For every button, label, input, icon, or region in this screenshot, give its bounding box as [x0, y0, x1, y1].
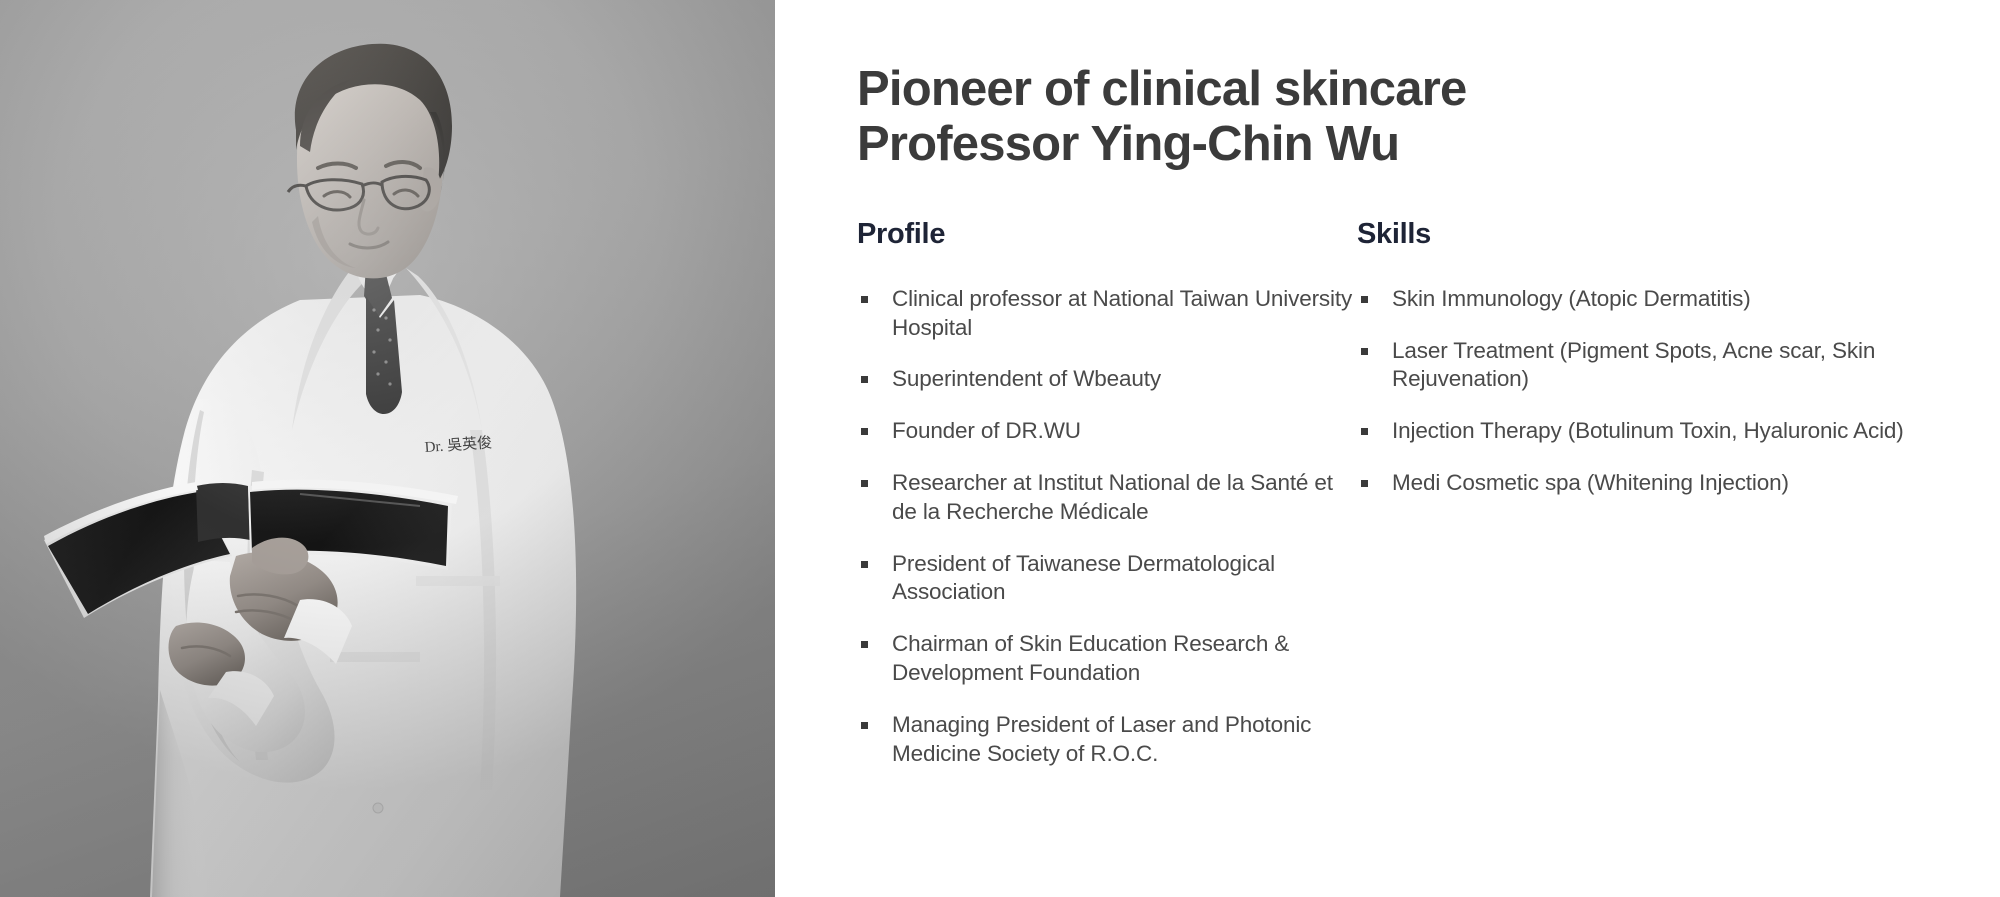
list-item-label: Medi Cosmetic spa (Whitening Injection): [1392, 470, 1789, 495]
square-bullet-icon: [861, 376, 868, 383]
list-item-label: Managing President of Laser and Photonic…: [892, 712, 1311, 766]
list-item-label: Chairman of Skin Education Research & De…: [892, 631, 1289, 685]
skills-column: Skills Skin Immunology (Atopic Dermatiti…: [1357, 218, 1957, 769]
list-item-label: President of Taiwanese Dermatological As…: [892, 551, 1275, 605]
info-columns: Profile Clinical professor at National T…: [857, 218, 2000, 769]
list-item-label: Researcher at Institut National de la Sa…: [892, 470, 1333, 524]
list-item: Medi Cosmetic spa (Whitening Injection): [1357, 469, 1957, 498]
square-bullet-icon: [1361, 348, 1368, 355]
square-bullet-icon: [861, 641, 868, 648]
list-item: Founder of DR.WU: [857, 417, 1357, 446]
square-bullet-icon: [861, 722, 868, 729]
square-bullet-icon: [861, 428, 868, 435]
list-item: Clinical professor at National Taiwan Un…: [857, 285, 1357, 343]
square-bullet-icon: [1361, 480, 1368, 487]
list-item-label: Skin Immunology (Atopic Dermatitis): [1392, 286, 1751, 311]
page-title: Pioneer of clinical skincare Professor Y…: [857, 62, 2000, 172]
list-item: Skin Immunology (Atopic Dermatitis): [1357, 285, 1957, 314]
list-item: Laser Treatment (Pigment Spots, Acne sca…: [1357, 337, 1957, 395]
list-item-label: Laser Treatment (Pigment Spots, Acne sca…: [1392, 338, 1875, 392]
title-line-2: Professor Ying-Chin Wu: [857, 117, 2000, 172]
list-item: Managing President of Laser and Photonic…: [857, 711, 1357, 769]
portrait-figure-illustration: Dr. 吳英俊: [0, 0, 775, 897]
square-bullet-icon: [861, 480, 868, 487]
list-item-label: Founder of DR.WU: [892, 418, 1081, 443]
list-item-label: Clinical professor at National Taiwan Un…: [892, 286, 1352, 340]
square-bullet-icon: [861, 561, 868, 568]
list-item-label: Superintendent of Wbeauty: [892, 366, 1161, 391]
square-bullet-icon: [1361, 296, 1368, 303]
square-bullet-icon: [1361, 428, 1368, 435]
skills-heading: Skills: [1357, 218, 1957, 251]
list-item: Superintendent of Wbeauty: [857, 365, 1357, 394]
profile-column: Profile Clinical professor at National T…: [857, 218, 1357, 769]
profile-list: Clinical professor at National Taiwan Un…: [857, 285, 1357, 769]
list-item: Chairman of Skin Education Research & De…: [857, 630, 1357, 688]
square-bullet-icon: [861, 296, 868, 303]
list-item: Injection Therapy (Botulinum Toxin, Hyal…: [1357, 417, 1957, 446]
skills-list: Skin Immunology (Atopic Dermatitis) Lase…: [1357, 285, 1957, 498]
content-panel: Pioneer of clinical skincare Professor Y…: [775, 0, 2000, 897]
profile-heading: Profile: [857, 218, 1357, 251]
list-item: Researcher at Institut National de la Sa…: [857, 469, 1357, 527]
list-item-label: Injection Therapy (Botulinum Toxin, Hyal…: [1392, 418, 1904, 443]
doctor-portrait-photo: Dr. 吳英俊: [0, 0, 775, 897]
title-line-1: Pioneer of clinical skincare: [857, 62, 2000, 117]
profile-slide: Dr. 吳英俊: [0, 0, 2000, 897]
list-item: President of Taiwanese Dermatological As…: [857, 550, 1357, 608]
